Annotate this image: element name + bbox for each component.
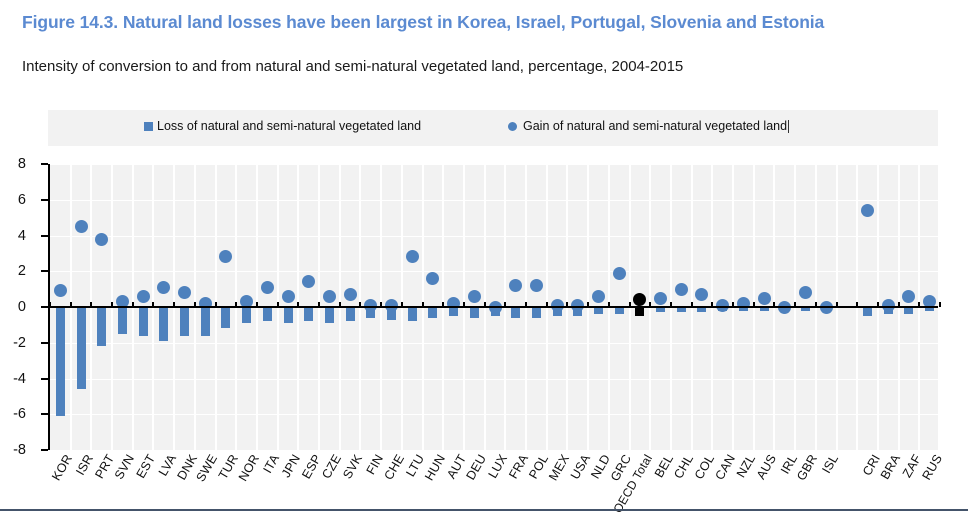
figure-title: Figure 14.3. Natural land losses have be…: [22, 12, 952, 33]
legend-label-gain: Gain of natural and semi-natural vegetat…: [523, 119, 787, 133]
x-axis-label-gbr: GBR: [795, 452, 821, 483]
x-axis-tick: [484, 302, 486, 307]
bar-svk[interactable]: [346, 307, 355, 321]
x-axis-tick: [152, 302, 154, 307]
x-axis-tick: [194, 302, 196, 307]
gridline-horizontal: [50, 200, 938, 201]
dot-isr[interactable]: [75, 220, 88, 233]
x-axis-tick: [173, 302, 175, 307]
y-axis-label: 8: [0, 156, 26, 172]
bar-dnk[interactable]: [180, 307, 189, 336]
x-axis-tick: [359, 302, 361, 307]
chart-plot-area: [48, 164, 938, 450]
dot-chl[interactable]: [675, 283, 688, 296]
dot-esp[interactable]: [302, 275, 315, 288]
y-axis-label: -2: [0, 335, 26, 351]
y-axis-tick: [41, 378, 48, 380]
gridline-horizontal: [50, 164, 938, 165]
x-axis-tick: [773, 302, 775, 307]
y-axis-label: 4: [0, 228, 26, 244]
dot-cri[interactable]: [861, 204, 874, 217]
dot-dnk[interactable]: [178, 286, 191, 299]
bar-lva[interactable]: [159, 307, 168, 341]
footer-divider: [0, 509, 968, 511]
chart-legend: Loss of natural and semi-natural vegetat…: [48, 110, 938, 146]
dot-fra[interactable]: [509, 279, 522, 292]
x-axis-label-rus: RUS: [919, 452, 945, 482]
x-axis-tick: [629, 302, 631, 307]
gridline-horizontal: [50, 343, 938, 344]
bar-pol[interactable]: [532, 307, 541, 318]
x-axis-label-prt: PRT: [92, 452, 117, 481]
x-axis-tick: [463, 302, 465, 307]
dot-deu[interactable]: [468, 290, 481, 303]
x-axis-tick: [401, 302, 403, 307]
x-axis-tick: [546, 302, 548, 307]
bar-oecd-total[interactable]: [635, 307, 644, 316]
x-axis-labels: KORISRPRTSVNESTLVADNKSWETURNORITAJPNESPC…: [48, 452, 938, 513]
y-axis-tick: [41, 199, 48, 201]
x-axis-label-esp: ESP: [299, 452, 324, 481]
bar-tur[interactable]: [221, 307, 230, 328]
x-axis-label-mex: MEX: [546, 452, 572, 483]
dot-prt[interactable]: [95, 233, 108, 246]
y-axis-label: -8: [0, 442, 26, 458]
text-caret-icon: [788, 120, 789, 133]
x-axis-label-can: CAN: [712, 452, 738, 482]
dot-cze[interactable]: [323, 290, 336, 303]
y-axis-label: 0: [0, 299, 26, 315]
x-axis-tick: [711, 302, 713, 307]
y-axis-label: 2: [0, 263, 26, 279]
x-axis-label-svk: SVK: [340, 452, 365, 481]
dot-bel[interactable]: [654, 292, 667, 305]
x-axis-tick: [256, 302, 258, 307]
bar-esp[interactable]: [304, 307, 313, 321]
bar-jpn[interactable]: [284, 307, 293, 323]
y-axis-tick: [41, 306, 48, 308]
bar-cze[interactable]: [325, 307, 334, 323]
x-axis-tick: [856, 302, 858, 307]
x-axis-tick: [277, 302, 279, 307]
x-axis-tick: [753, 302, 755, 307]
bar-nld[interactable]: [594, 307, 603, 314]
x-axis-tick: [836, 302, 838, 307]
bar-zaf[interactable]: [904, 307, 913, 314]
dot-zaf[interactable]: [902, 290, 915, 303]
x-axis-tick: [918, 302, 920, 307]
x-axis-tick: [566, 302, 568, 307]
gridline-horizontal: [50, 236, 938, 237]
legend-label-loss: Loss of natural and semi-natural vegetat…: [157, 119, 421, 133]
dot-lva[interactable]: [157, 281, 170, 294]
dot-oecd-total[interactable]: [633, 293, 646, 306]
x-axis-tick: [670, 302, 672, 307]
y-axis-label: 6: [0, 192, 26, 208]
y-axis-tick: [41, 342, 48, 344]
x-axis-label-aus: AUS: [754, 452, 779, 482]
bar-grc[interactable]: [615, 307, 624, 314]
x-axis-label-col: COL: [692, 452, 717, 482]
chart-plot-inner: [50, 164, 938, 450]
x-axis-tick: [297, 302, 299, 307]
x-axis-tick: [70, 302, 72, 307]
x-axis-label-bel: BEL: [651, 452, 675, 480]
x-axis-tick: [587, 302, 589, 307]
dot-aus[interactable]: [758, 292, 771, 305]
x-axis-tick: [318, 302, 320, 307]
x-axis-tick: [815, 302, 817, 307]
x-axis-label-lux: LUX: [486, 452, 511, 481]
x-axis-tick: [504, 302, 506, 307]
legend-item-loss[interactable]: Loss of natural and semi-natural vegetat…: [144, 119, 421, 133]
dot-ltu[interactable]: [406, 250, 419, 263]
dot-est[interactable]: [137, 290, 150, 303]
y-axis-tick: [41, 163, 48, 165]
bar-svn[interactable]: [118, 307, 127, 334]
dot-svk[interactable]: [344, 288, 357, 301]
x-axis-label-che: CHE: [381, 452, 407, 482]
x-axis-tick: [877, 302, 879, 307]
dot-nld[interactable]: [592, 290, 605, 303]
x-axis-tick: [898, 302, 900, 307]
x-axis-tick: [422, 302, 424, 307]
x-axis-label-isl: ISL: [819, 452, 841, 476]
legend-dot-icon: [508, 122, 517, 131]
bar-ltu[interactable]: [408, 307, 417, 321]
bar-swe[interactable]: [201, 307, 210, 336]
bar-deu[interactable]: [470, 307, 479, 318]
x-axis-label-chl: CHL: [671, 452, 696, 481]
x-axis-tick: [442, 302, 444, 307]
figure-subtitle: Intensity of conversion to and from natu…: [22, 58, 952, 75]
legend-item-gain[interactable]: Gain of natural and semi-natural vegetat…: [508, 119, 789, 133]
x-axis-tick: [339, 302, 341, 307]
x-axis-tick: [132, 302, 134, 307]
x-axis-label-hun: HUN: [422, 452, 448, 483]
x-axis-label-est: EST: [134, 452, 159, 481]
x-axis-label-fra: FRA: [506, 452, 531, 481]
bar-isr[interactable]: [77, 307, 86, 389]
dot-jpn[interactable]: [282, 290, 295, 303]
y-axis-label: -4: [0, 371, 26, 387]
y-axis-tick: [41, 413, 48, 415]
x-axis-label-bra: BRA: [878, 452, 903, 482]
bar-cri[interactable]: [863, 307, 872, 316]
y-axis-tick: [41, 270, 48, 272]
dot-tur[interactable]: [219, 250, 232, 263]
dot-kor[interactable]: [54, 284, 67, 297]
x-axis-tick: [380, 302, 382, 307]
x-axis-label-deu: DEU: [464, 452, 490, 482]
zero-axis-line: [50, 306, 938, 308]
x-axis-label-usa: USA: [568, 452, 593, 482]
x-axis-tick: [691, 302, 693, 307]
bar-hun[interactable]: [428, 307, 437, 318]
x-axis-tick: [49, 302, 51, 307]
x-axis-label-jpn: JPN: [279, 452, 303, 480]
legend-square-icon: [144, 122, 153, 131]
gridline-horizontal: [50, 379, 938, 380]
x-axis-label-cze: CZE: [320, 452, 345, 481]
x-axis-tick: [111, 302, 113, 307]
x-axis-tick: [939, 302, 941, 307]
gridline-horizontal: [50, 271, 938, 272]
x-axis-label-kor: KOR: [50, 452, 76, 483]
dot-ita[interactable]: [261, 281, 274, 294]
dot-grc[interactable]: [613, 267, 626, 280]
gridline-horizontal: [50, 450, 938, 451]
dot-gbr[interactable]: [799, 286, 812, 299]
x-axis-label-nor: NOR: [235, 452, 261, 484]
dot-pol[interactable]: [530, 279, 543, 292]
y-axis-label: -6: [0, 406, 26, 422]
x-axis-tick: [732, 302, 734, 307]
x-axis-tick: [215, 302, 217, 307]
bar-nor[interactable]: [242, 307, 251, 323]
x-axis-tick: [649, 302, 651, 307]
bar-est[interactable]: [139, 307, 148, 336]
x-axis-tick: [90, 302, 92, 307]
bar-ita[interactable]: [263, 307, 272, 321]
bar-prt[interactable]: [97, 307, 106, 346]
bar-kor[interactable]: [56, 307, 65, 416]
y-axis-tick: [41, 449, 48, 451]
x-axis-tick: [608, 302, 610, 307]
bar-fra[interactable]: [511, 307, 520, 318]
dot-col[interactable]: [695, 288, 708, 301]
x-axis-tick: [525, 302, 527, 307]
dot-hun[interactable]: [426, 272, 439, 285]
x-axis-label-svn: SVN: [112, 452, 137, 482]
y-axis-tick: [41, 235, 48, 237]
x-axis-tick: [794, 302, 796, 307]
gridline-horizontal: [50, 414, 938, 415]
x-axis-tick: [235, 302, 237, 307]
